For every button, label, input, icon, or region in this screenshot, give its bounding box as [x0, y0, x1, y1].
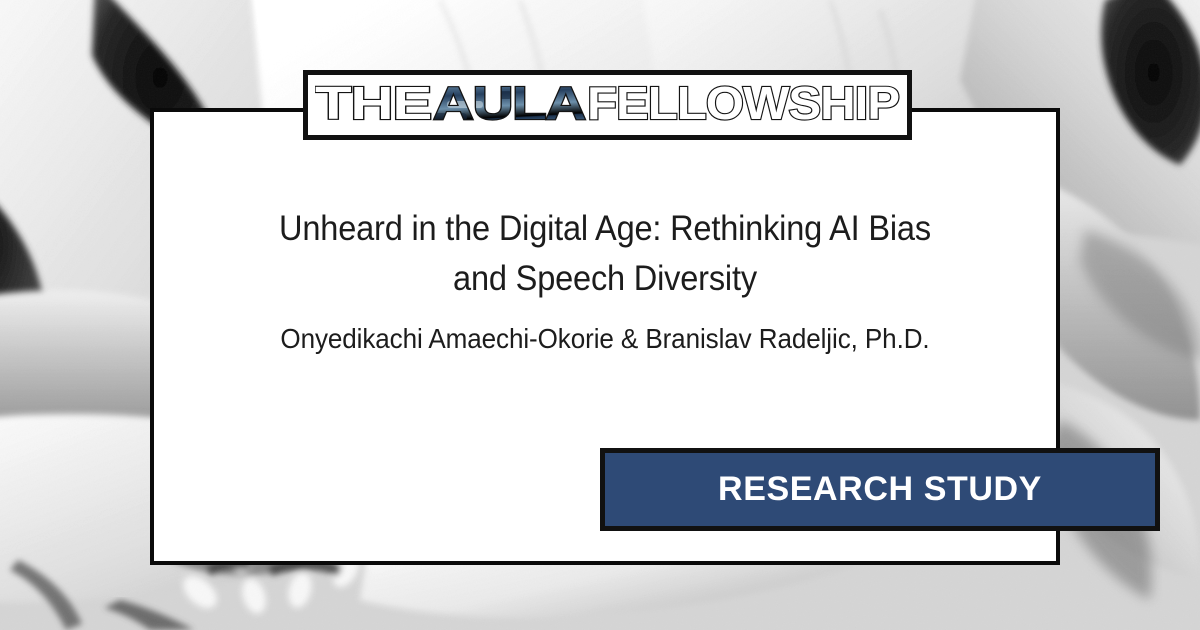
brand-logo-box: .lg-out { font-family:"Liberation Sans",… [303, 70, 912, 140]
authors-line: Onyedikachi Amaechi-Okorie & Branislav R… [213, 323, 996, 355]
logo-word-aula: AULA [433, 79, 585, 129]
logo-word-fellowship: FELLOWSHIP [587, 79, 899, 129]
logo-word-the: THE [315, 79, 431, 129]
page-title: Unheard in the Digital Age: Rethinking A… [213, 204, 996, 303]
research-study-banner: RESEARCH STUDY [600, 448, 1160, 531]
the-aula-fellowship-logo: .lg-out { font-family:"Liberation Sans",… [315, 79, 900, 131]
status-badge: RESEARCH STUDY [718, 470, 1042, 509]
